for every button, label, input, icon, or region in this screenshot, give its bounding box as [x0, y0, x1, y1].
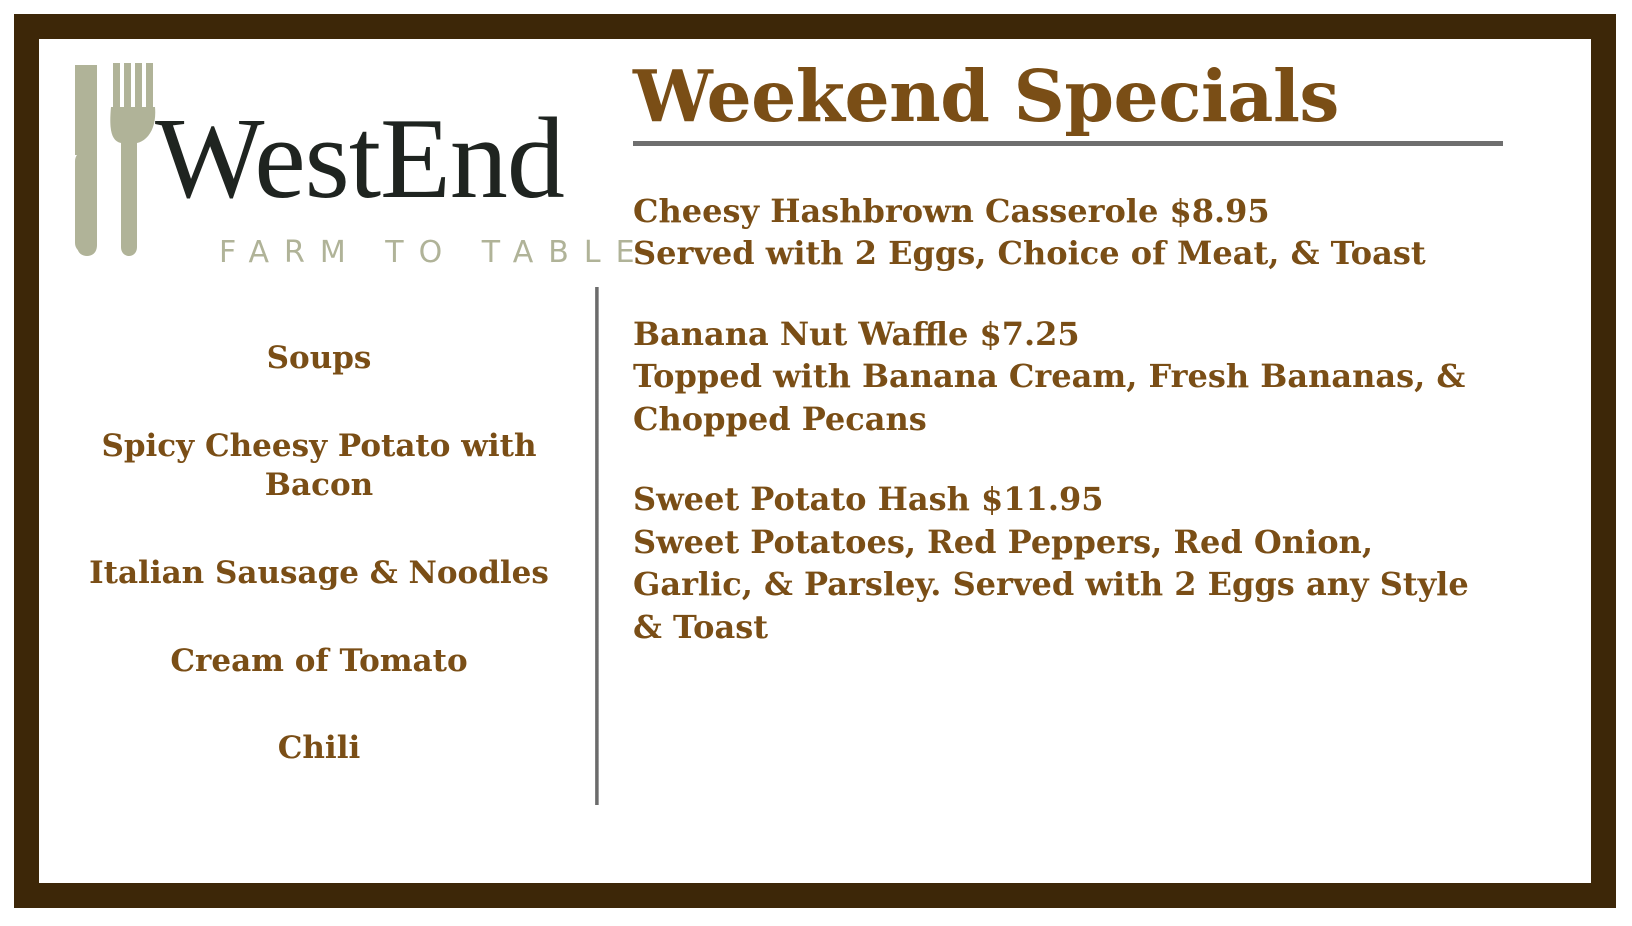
special-name: Sweet Potato Hash $11.95	[633, 478, 1503, 521]
specials-title: Weekend Specials	[633, 57, 1503, 146]
soups-heading: Soups	[69, 339, 569, 379]
special-name: Cheesy Hashbrown Casserole $8.95	[633, 190, 1503, 233]
brand-logo: WestEnd FARM TO TABLE	[67, 57, 607, 272]
brand-tagline: FARM TO TABLE	[219, 235, 650, 270]
weekend-specials-poster: WestEnd FARM TO TABLE Soups Spicy Cheesy…	[0, 0, 1632, 926]
fork-and-knife-icon	[67, 57, 163, 257]
special-name: Banana Nut Waffle $7.25	[633, 313, 1503, 356]
soup-item: Cream of Tomato	[69, 642, 569, 682]
special-description: Served with 2 Eggs, Choice of Meat, & To…	[633, 232, 1503, 275]
special-item: Sweet Potato Hash $11.95 Sweet Potatoes,…	[633, 478, 1503, 648]
vertical-divider	[595, 287, 599, 805]
soup-item: Italian Sausage & Noodles	[69, 554, 569, 594]
special-description: Sweet Potatoes, Red Peppers, Red Onion, …	[633, 521, 1503, 649]
specials-list: Cheesy Hashbrown Casserole $8.95 Served …	[633, 190, 1503, 649]
special-description: Topped with Banana Cream, Fresh Bananas,…	[633, 355, 1503, 440]
poster-frame-border: WestEnd FARM TO TABLE Soups Spicy Cheesy…	[14, 14, 1616, 908]
poster-content-area: WestEnd FARM TO TABLE Soups Spicy Cheesy…	[39, 39, 1591, 883]
special-item: Banana Nut Waffle $7.25 Topped with Bana…	[633, 313, 1503, 441]
soups-section: Soups Spicy Cheesy Potato with Bacon Ita…	[69, 339, 569, 769]
special-item: Cheesy Hashbrown Casserole $8.95 Served …	[633, 190, 1503, 275]
brand-wordmark: WestEnd	[155, 101, 564, 217]
soup-item: Chili	[69, 729, 569, 769]
soup-item: Spicy Cheesy Potato with Bacon	[69, 427, 569, 506]
specials-section: Weekend Specials Cheesy Hashbrown Casser…	[633, 57, 1503, 648]
